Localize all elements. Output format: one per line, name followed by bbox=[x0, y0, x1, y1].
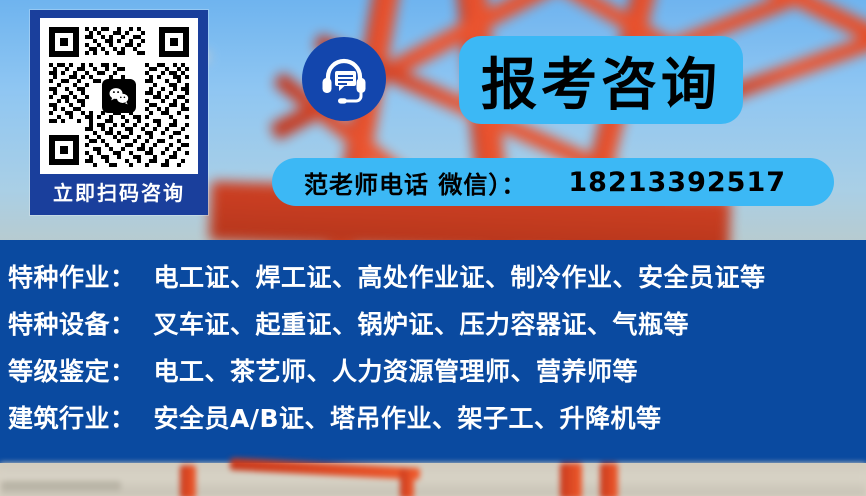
qr-finder-top-left bbox=[49, 27, 79, 57]
wechat-glyph bbox=[107, 84, 131, 108]
service-row-grade-assessment: 等级鉴定： 电工、茶艺师、人力资源管理师、营养师等 bbox=[0, 352, 866, 399]
promo-poster: 立即扫码咨询 报考咨询 范老师电话 微信）： 18213392517 bbox=[0, 0, 866, 496]
qr-finder-top-right bbox=[159, 27, 189, 57]
service-label: 等级鉴定： bbox=[8, 352, 136, 388]
headset-support-icon bbox=[302, 37, 386, 121]
contact-phone-badge[interactable]: 范老师电话 微信）： 18213392517 bbox=[272, 158, 834, 206]
qr-code-card[interactable]: 立即扫码咨询 bbox=[30, 10, 208, 215]
service-row-special-operations: 特种作业： 电工证、焊工证、高处作业证、制冷作业、安全员证等 bbox=[0, 258, 866, 305]
headset-glyph bbox=[317, 52, 371, 106]
services-band: 特种作业： 电工证、焊工证、高处作业证、制冷作业、安全员证等 特种设备： 叉车证… bbox=[0, 240, 866, 463]
service-row-construction-industry: 建筑行业： 安全员A/B证、塔吊作业、架子工、升降机等 bbox=[0, 399, 866, 446]
qr-finder-bottom-left bbox=[49, 135, 79, 165]
page-title: 报考咨询 bbox=[459, 36, 743, 124]
service-label: 特种作业： bbox=[8, 258, 136, 294]
phone-number[interactable]: 18213392517 bbox=[526, 167, 786, 198]
service-value: 叉车证、起重证、锅炉证、压力容器证、气瓶等 bbox=[136, 305, 690, 341]
wechat-icon bbox=[102, 79, 136, 113]
bottom-photo-strip bbox=[0, 463, 866, 496]
service-label: 建筑行业： bbox=[8, 399, 136, 435]
service-row-special-equipment: 特种设备： 叉车证、起重证、锅炉证、压力容器证、气瓶等 bbox=[0, 305, 866, 352]
service-label: 特种设备： bbox=[8, 305, 136, 341]
service-value: 电工证、焊工证、高处作业证、制冷作业、安全员证等 bbox=[136, 258, 766, 294]
service-value: 安全员A/B证、塔吊作业、架子工、升降机等 bbox=[136, 399, 662, 435]
qr-caption: 立即扫码咨询 bbox=[33, 174, 205, 212]
qr-code-image[interactable] bbox=[40, 18, 198, 174]
service-value: 电工、茶艺师、人力资源管理师、营养师等 bbox=[136, 352, 639, 388]
phone-label: 范老师电话 微信）： bbox=[272, 165, 526, 200]
